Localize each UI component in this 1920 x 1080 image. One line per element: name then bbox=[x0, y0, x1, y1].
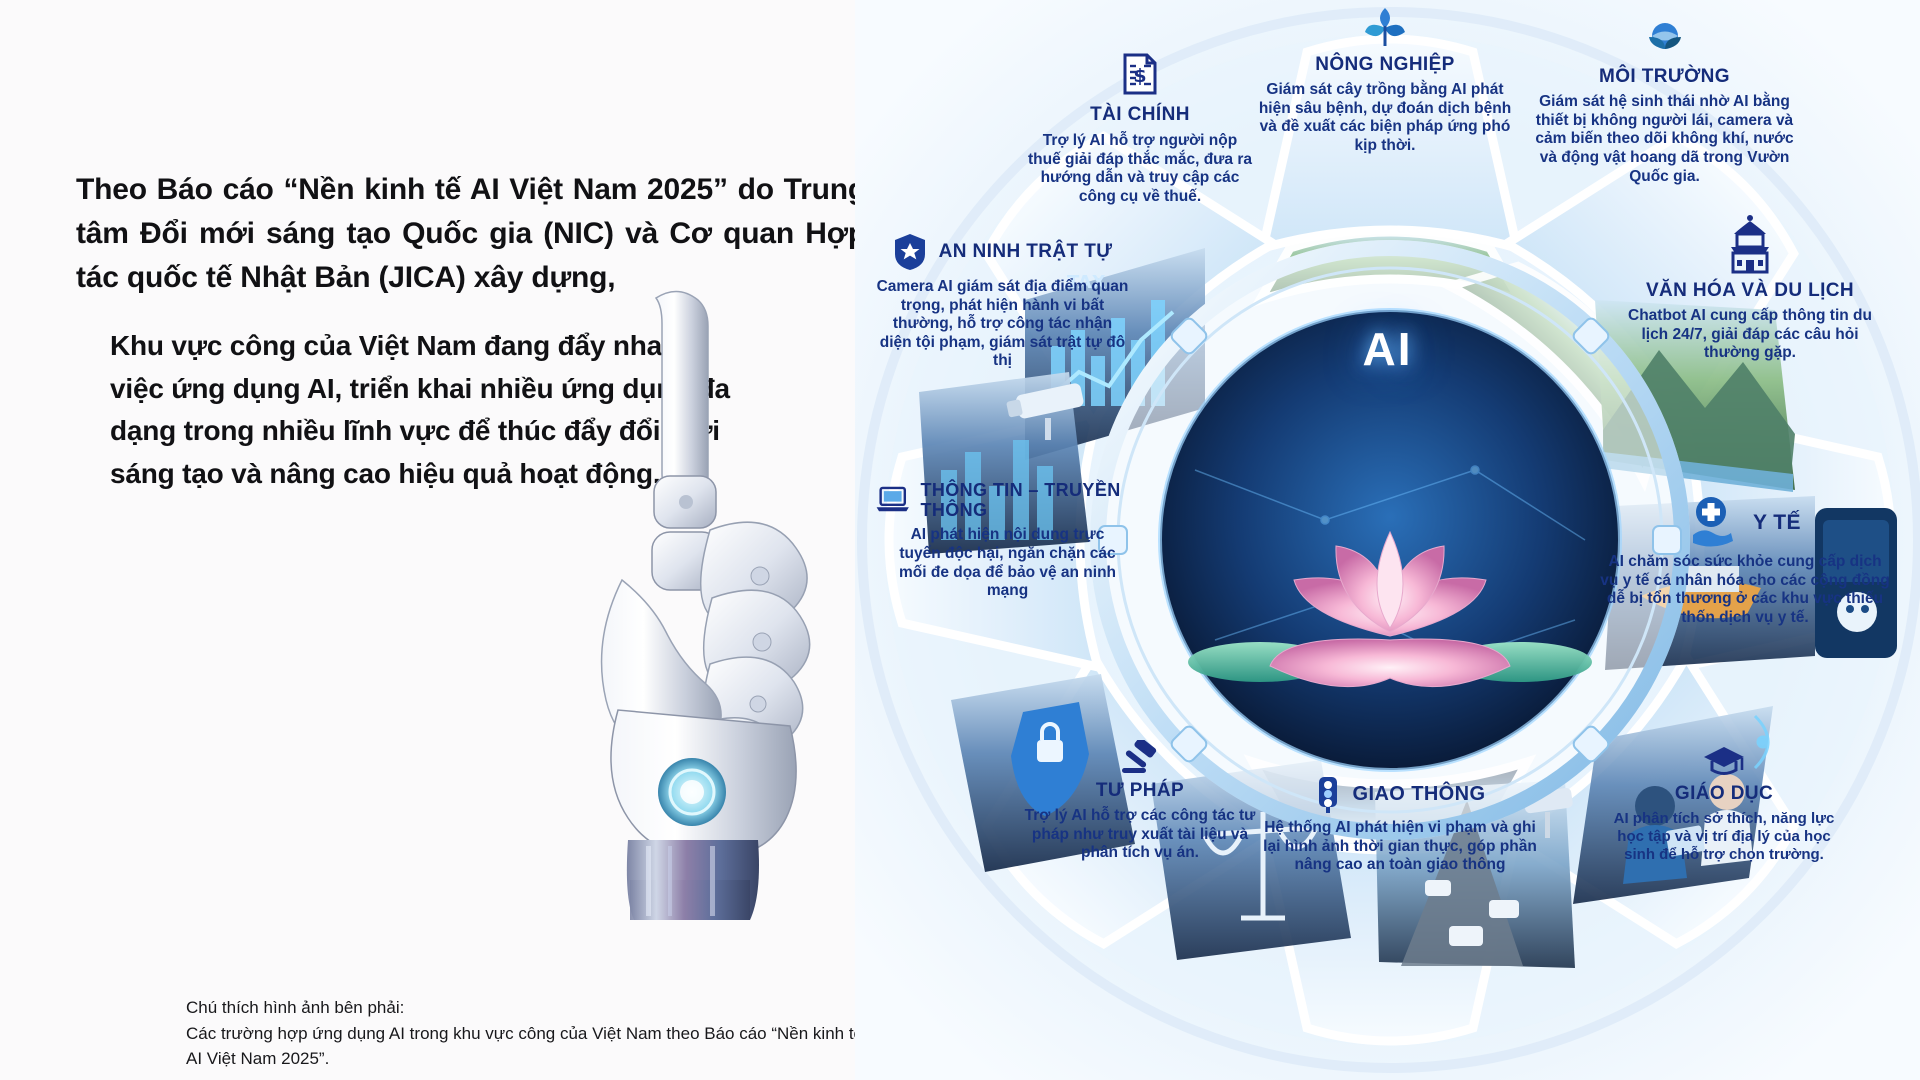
ai-core-label: AI bbox=[855, 322, 1920, 376]
svg-text:TAX: TAX bbox=[1067, 272, 1106, 293]
robot-wrist bbox=[627, 840, 759, 920]
left-text-panel: Theo Báo cáo “Nền kinh tế AI Việt Nam 20… bbox=[0, 0, 880, 1080]
robot-palm bbox=[611, 710, 796, 858]
robot-hand-illustration bbox=[560, 280, 900, 920]
security-city-image bbox=[919, 372, 1089, 554]
ai-usecase-wheel: TAX bbox=[855, 0, 1920, 1080]
